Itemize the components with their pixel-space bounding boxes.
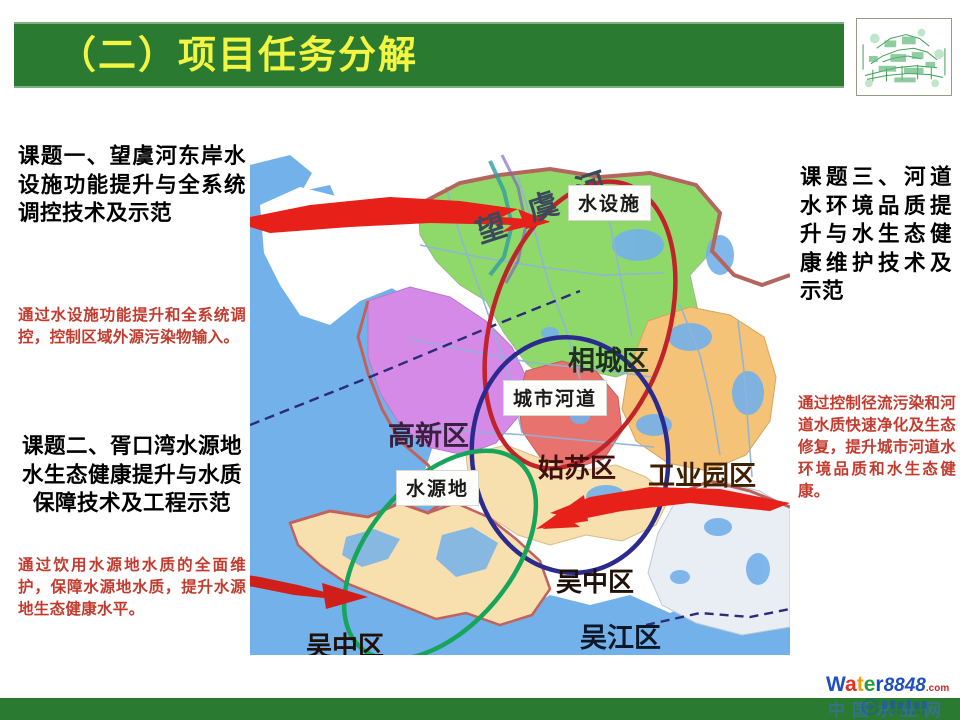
page-title: （二）项目任务分解 <box>58 28 838 84</box>
watermark-letter-a: a <box>845 673 857 696</box>
topic-two-description: 通过饮用水源地水质的全面维护，保障水源地水质，提升水源地生态健康水平。 <box>18 555 246 621</box>
map-label-gusu: 姑苏区 <box>538 453 616 483</box>
watermark: Water8848.com 中国水业网 <box>826 674 954 718</box>
watermark-brand: Water8848.com <box>826 674 949 695</box>
topic-three-title: 课题三、河道水环境品质提升与水生态健康维护技术及示范 <box>800 163 952 306</box>
map-label-wujiang: 吴江区 <box>580 623 661 653</box>
footer-bar <box>0 698 960 720</box>
header-logo <box>856 18 952 96</box>
map-label-industrial-park: 工业园区 <box>648 461 756 491</box>
callout-label-water-source[interactable]: 水源地 <box>396 470 479 506</box>
map-label-gaoxin: 高新区 <box>388 420 469 451</box>
topic-three-description: 通过控制径流污染和河道水质快速净化及生态修复，提升城市河道水环境品质和水生态健康… <box>798 393 956 503</box>
green-sketch-logo-icon <box>857 19 951 95</box>
topic-one-title: 课题一、望虞河东岸水设施功能提升与全系统调控技术及示范 <box>18 142 246 228</box>
map-label-xiangcheng: 相城区 <box>568 346 649 376</box>
watermark-letter-w: W <box>826 673 845 696</box>
slide-root: （二）项目任务分解 <box>0 0 960 720</box>
watermark-letter-e: e <box>864 673 876 696</box>
topic-one-description: 通过水设施功能提升和全系统调控，控制区域外源污染物输入。 <box>18 305 246 349</box>
watermark-letter-r: r <box>875 673 883 696</box>
watermark-number: 8848 <box>884 675 926 696</box>
map-label-wuzhong-peninsula: 吴中区 <box>306 631 384 655</box>
map-label-wuzhong-north: 吴中区 <box>556 567 634 597</box>
callout-label-urban-river[interactable]: 城市河道 <box>503 380 607 416</box>
institute-seal-icon <box>860 698 938 716</box>
callout-label-water-facility[interactable]: 水设施 <box>568 185 651 221</box>
topic-two-title: 课题二、胥口湾水源地水生态健康提升与水质保障技术及工程示范 <box>18 432 246 518</box>
watermark-tld: .com <box>926 683 949 694</box>
watermark-letter-t: t <box>857 673 864 696</box>
